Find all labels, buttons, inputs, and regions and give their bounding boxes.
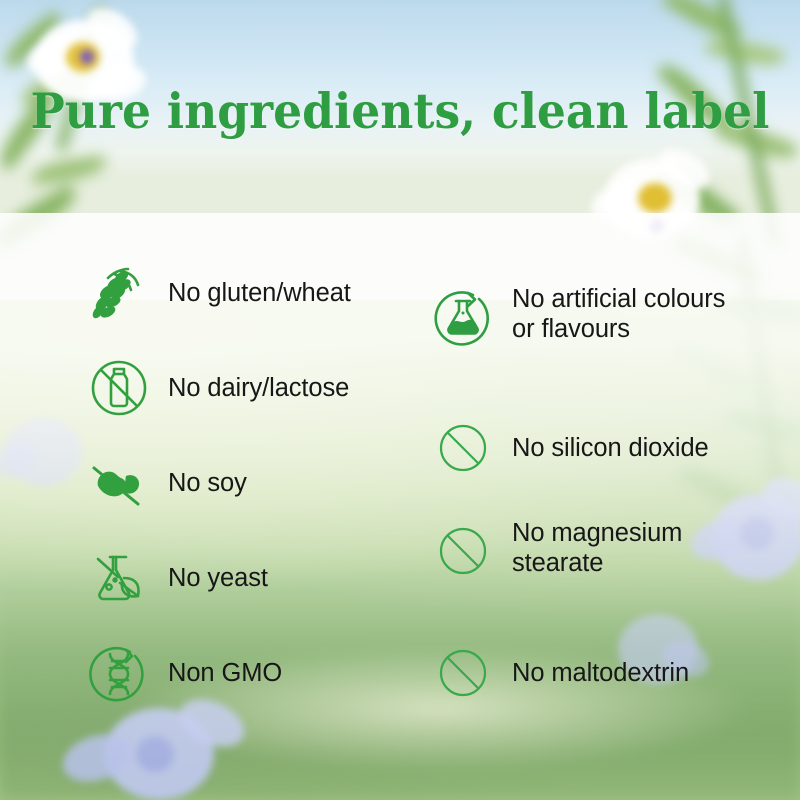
- list-item-label: No soy: [168, 468, 247, 498]
- circle-slash-icon: [432, 642, 494, 704]
- wheat-slash-icon: [88, 262, 150, 324]
- list-item-label: Non GMO: [168, 658, 282, 688]
- list-item-no-soy: No soy: [88, 452, 247, 514]
- list-item-label: No dairy/lactose: [168, 373, 349, 403]
- list-item-label: No magnesiumstearate: [512, 518, 682, 578]
- list-item-no-maltodextrin: No maltodextrin: [432, 642, 689, 704]
- flask-leaf-slash-icon: [88, 547, 150, 609]
- bottle-no-icon: [88, 357, 150, 419]
- list-item-label: No gluten/wheat: [168, 278, 351, 308]
- list-item-no-dairy: No dairy/lactose: [88, 357, 349, 419]
- list-item-no-gluten: No gluten/wheat: [88, 262, 351, 324]
- list-item-no-yeast: No yeast: [88, 547, 268, 609]
- list-item-label: No maltodextrin: [512, 658, 689, 688]
- list-item-no-artificial-colours: No artificial coloursor flavours: [432, 284, 725, 348]
- list-item-no-silicon-dioxide: No silicon dioxide: [432, 417, 709, 479]
- poster-root: Pure ingredients, clean label: [0, 0, 800, 800]
- list-item-label: No silicon dioxide: [512, 433, 709, 463]
- circle-slash-icon: [432, 417, 494, 479]
- page-title: Pure ingredients, clean label: [28, 82, 772, 140]
- flask-no-icon: [432, 286, 494, 348]
- list-item-no-magnesium-stearate: No magnesiumstearate: [432, 518, 682, 582]
- dna-no-icon: [88, 642, 150, 704]
- beans-slash-icon: [88, 452, 150, 514]
- circle-slash-icon: [432, 520, 494, 582]
- list-item-label: No yeast: [168, 563, 268, 593]
- list-item-non-gmo: Non GMO: [88, 642, 282, 704]
- list-item-label: No artificial coloursor flavours: [512, 284, 725, 344]
